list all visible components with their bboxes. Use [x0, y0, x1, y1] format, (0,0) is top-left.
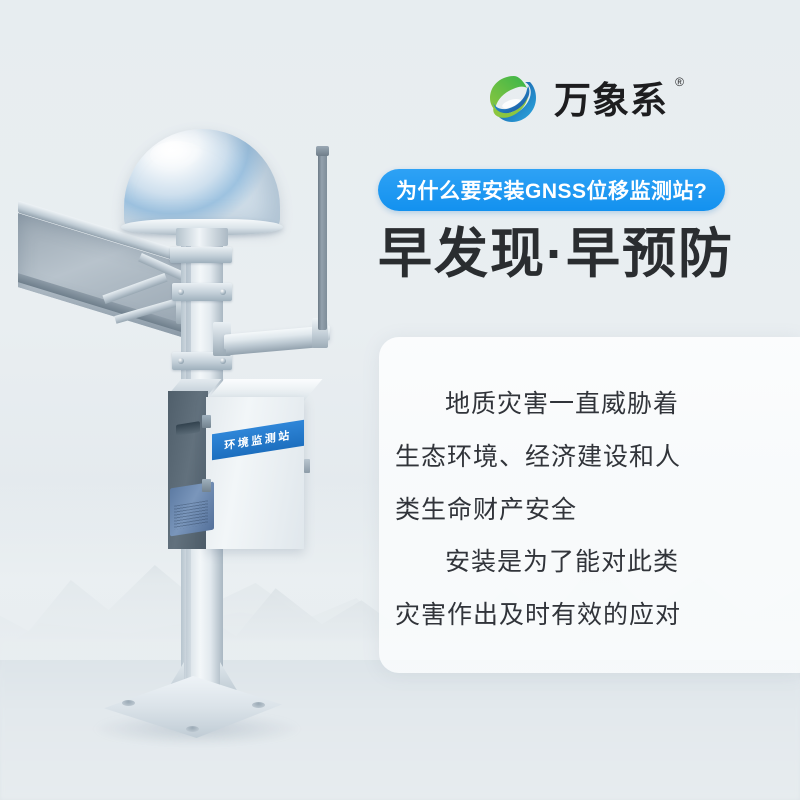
enclosure-hinge-icon: [202, 415, 211, 428]
gnss-monitoring-station-illustration: 环境监测站: [0, 0, 400, 800]
brand-name-text: 万象系: [554, 80, 668, 121]
enclosure-latch-icon: [304, 459, 310, 473]
registered-trademark-icon: ®: [675, 76, 685, 88]
description-line: 灾害作出及时有效的应对: [395, 591, 795, 640]
clamp-bolt-icon: [220, 289, 226, 295]
description-line: 安装是为了能对此类: [395, 538, 795, 587]
description-card-body: 地质灾害一直威胁着 生态环境、经济建设和人 类生命财产安全 安装是为了能对此类 …: [395, 360, 795, 660]
brand-name: 万象系 ®: [554, 82, 668, 119]
mast-clamp: [170, 247, 232, 263]
enclosure-hinge-icon: [202, 479, 211, 492]
antenna-rod-icon: [318, 152, 327, 330]
gnss-antenna-dome-icon: [124, 129, 280, 229]
brand-logo: 万象系 ®: [484, 64, 784, 136]
clamp-bolt-icon: [178, 358, 184, 364]
question-badge-text: 为什么要安装GNSS位移监测站?: [396, 175, 707, 205]
clamp-bolt-icon: [178, 289, 184, 295]
antenna-cap-icon: [316, 146, 329, 156]
globe-swirl-logo-icon: [484, 72, 540, 128]
equipment-enclosure-icon: 环境监测站: [160, 375, 312, 560]
description-line: 生态环境、经济建设和人: [395, 433, 795, 482]
dome-collar: [176, 228, 228, 246]
base-bolt-hole-icon: [122, 700, 135, 706]
poster-stage: 环境监测站: [0, 0, 800, 800]
enclosure-front-panel: [206, 397, 304, 549]
clamp-bolt-icon: [220, 358, 226, 364]
description-line: 地质灾害一直威胁着: [395, 380, 795, 429]
question-badge: 为什么要安装GNSS位移监测站?: [378, 169, 725, 211]
page-title: 早发现·早预防: [378, 225, 798, 284]
description-line: 类生命财产安全: [395, 486, 795, 535]
dome-highlight: [150, 141, 204, 169]
base-bolt-hole-icon: [252, 702, 265, 708]
base-bolt-hole-icon: [186, 726, 199, 732]
